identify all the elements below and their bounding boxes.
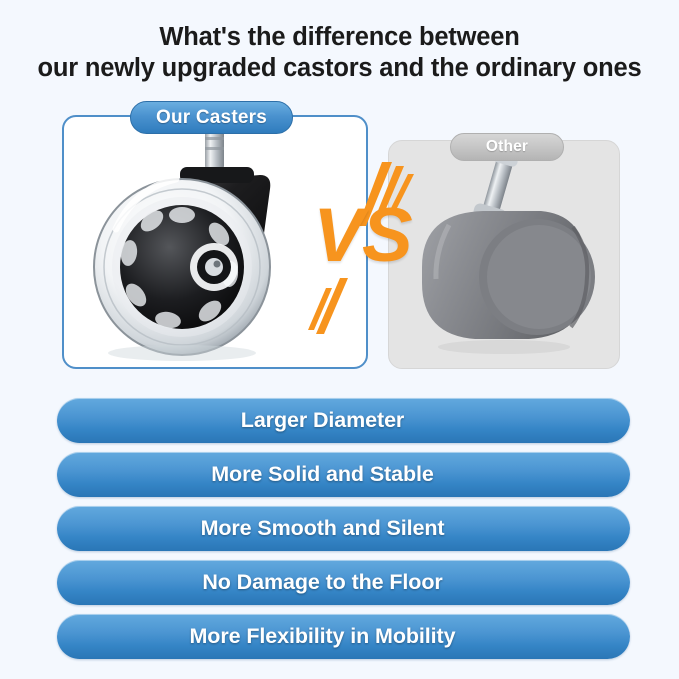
feature-label: Larger Diameter	[57, 408, 630, 433]
feature-label: More Flexibility in Mobility	[57, 624, 630, 649]
feature-bar: No Damage to the Floor	[57, 560, 630, 605]
our-casters-badge: Our Casters	[130, 101, 293, 134]
infographic-root: What's the difference between our newly …	[0, 0, 679, 679]
headline-line-2: our newly upgraded castors and the ordin…	[0, 53, 679, 84]
versus-label: VS	[296, 196, 428, 276]
versus-emblem: VS	[296, 160, 428, 335]
feature-list: Larger Diameter More Solid and Stable Mo…	[57, 398, 630, 668]
feature-label: No Damage to the Floor	[57, 570, 630, 595]
headline-line-1: What's the difference between	[159, 23, 519, 51]
other-badge-label: Other	[486, 138, 528, 156]
feature-label: More Solid and Stable	[57, 462, 630, 487]
other-badge: Other	[450, 133, 564, 161]
feature-label: More Smooth and Silent	[57, 516, 630, 541]
our-casters-badge-label: Our Casters	[156, 107, 267, 129]
feature-bar: Larger Diameter	[57, 398, 630, 443]
feature-bar: More Smooth and Silent	[57, 506, 630, 551]
page-title: What's the difference between our newly …	[0, 22, 679, 84]
feature-bar: More Flexibility in Mobility	[57, 614, 630, 659]
feature-bar: More Solid and Stable	[57, 452, 630, 497]
